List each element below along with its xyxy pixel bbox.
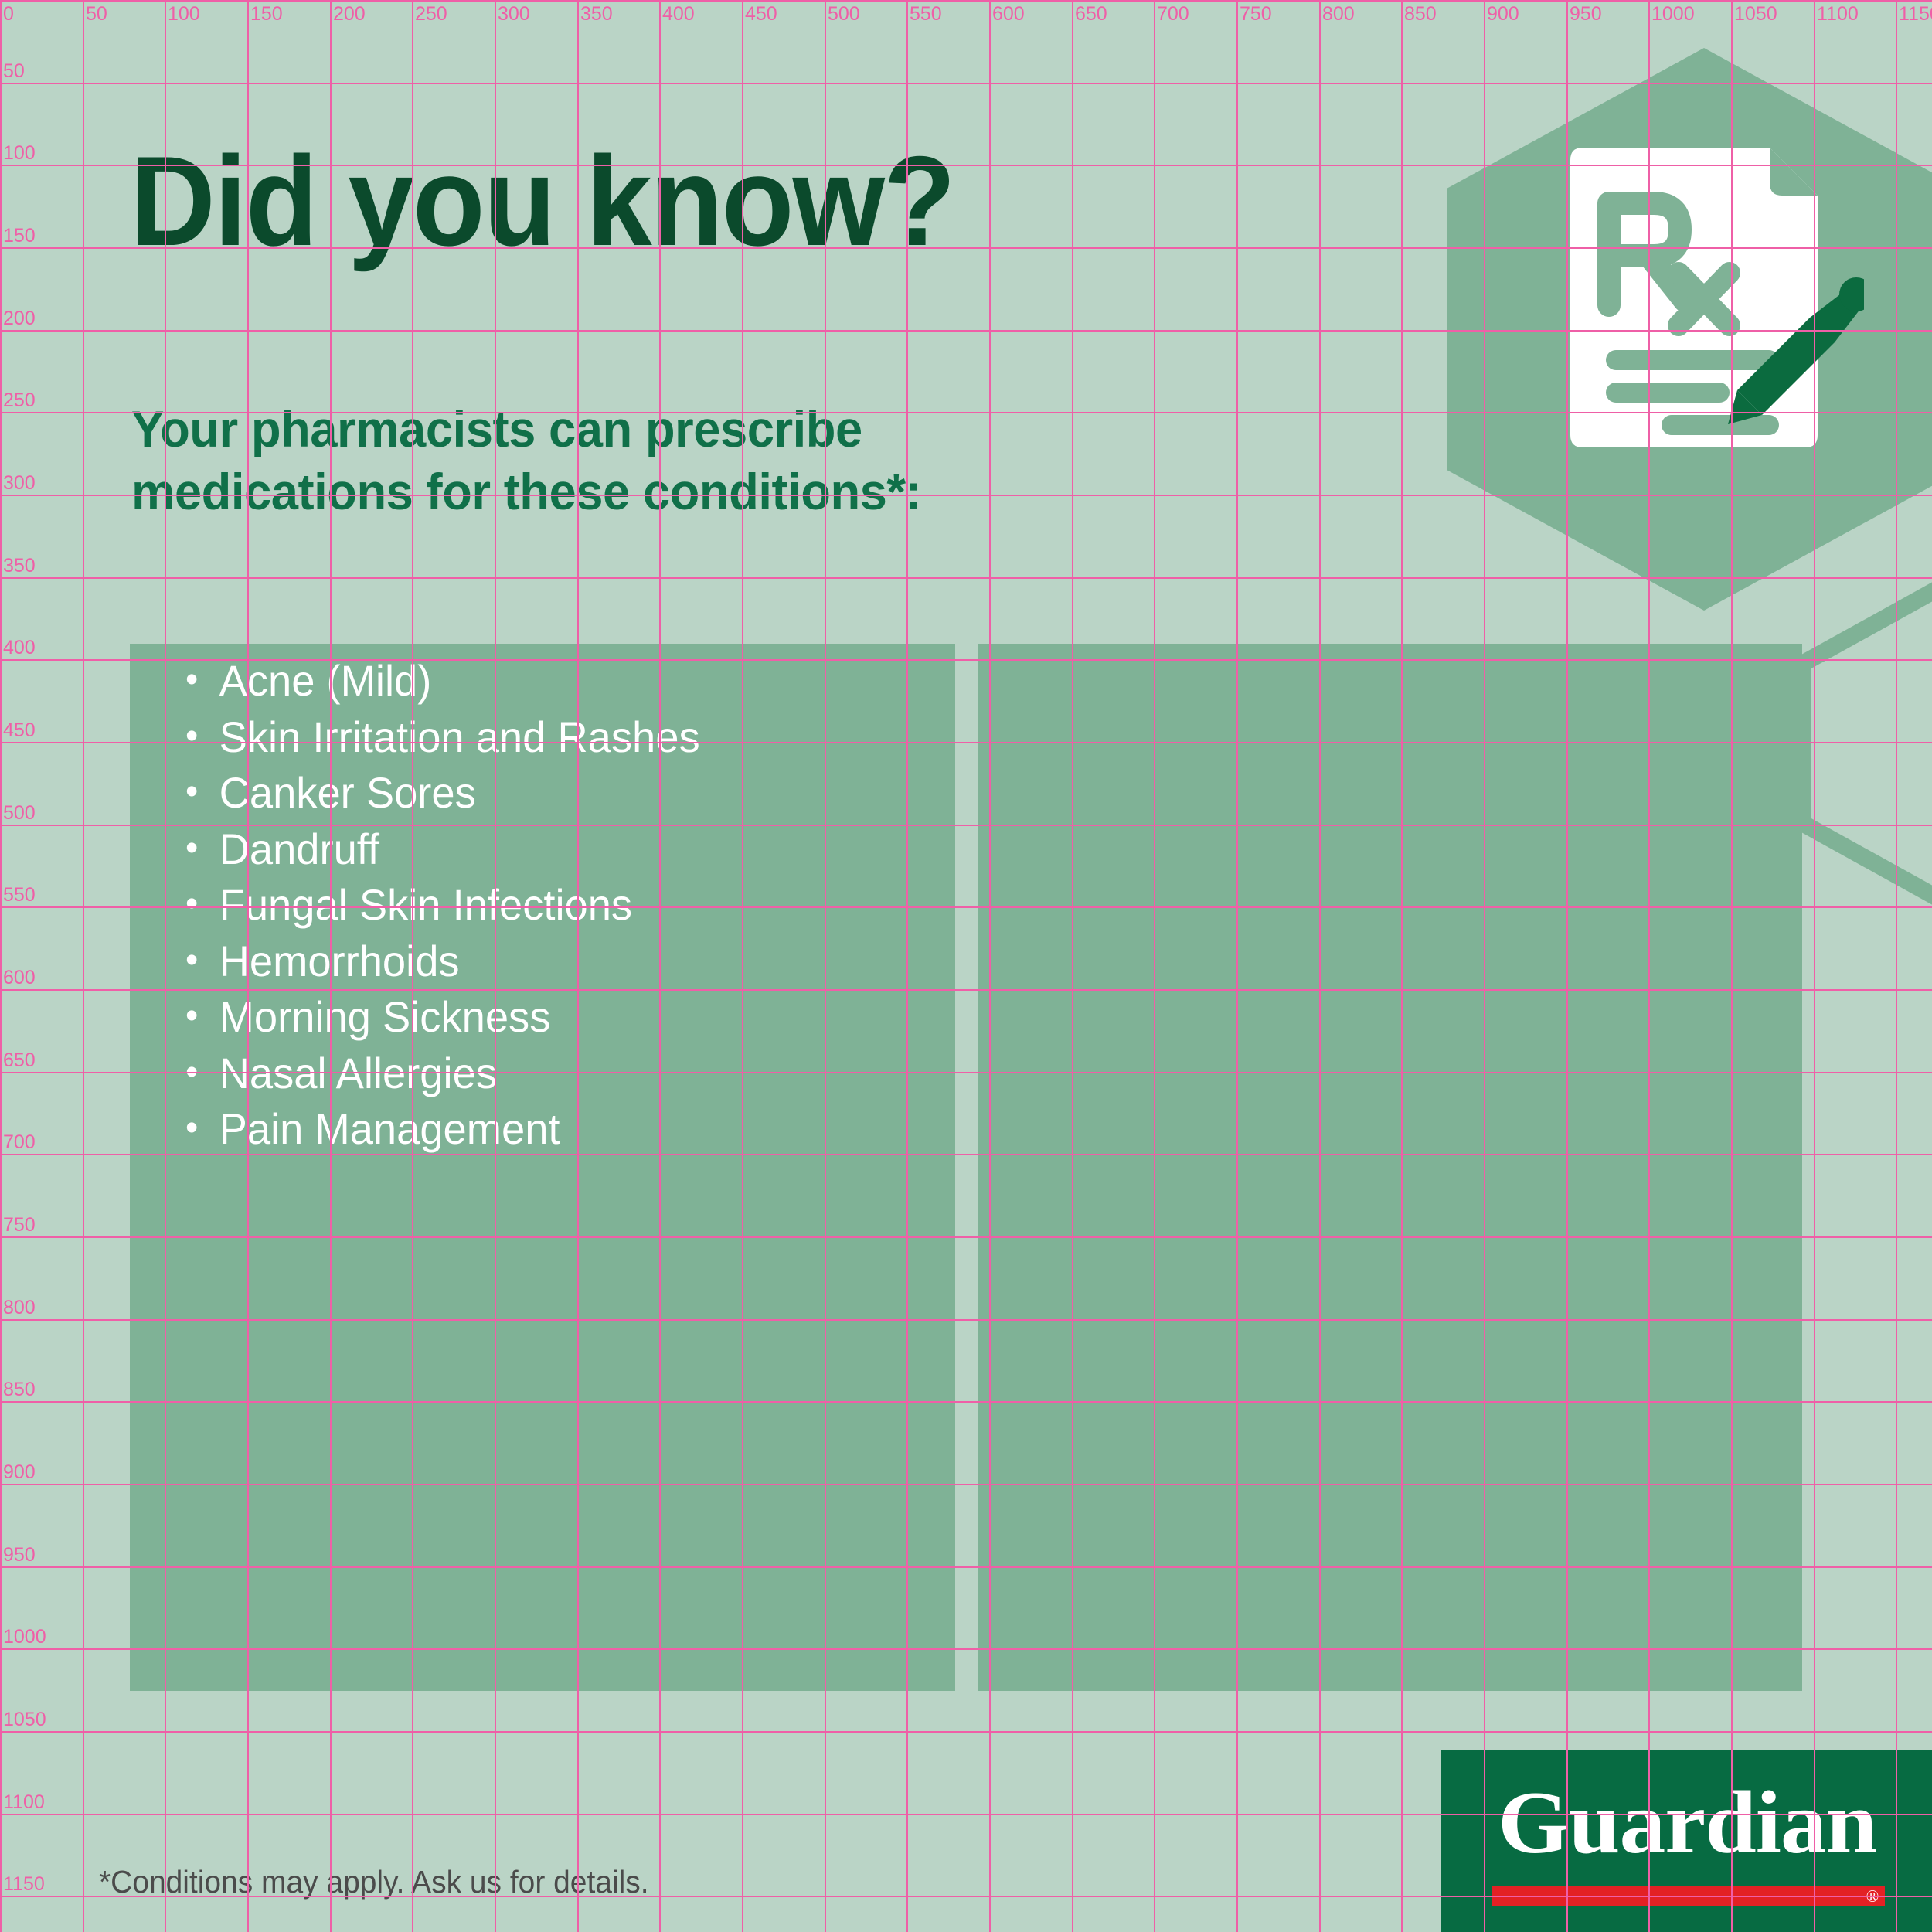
grid-tick-label-x: 100	[168, 5, 200, 24]
grid-tick-label-y: 1100	[3, 1793, 45, 1812]
grid-line-vertical	[1896, 0, 1897, 1932]
list-item: Nasal Allergies	[185, 1046, 700, 1102]
prescription-rx-icon	[1563, 143, 1864, 452]
grid-tick-label-x: 1050	[1734, 5, 1777, 24]
grid-tick-label-y: 150	[3, 226, 36, 246]
grid-line-horizontal	[0, 577, 1932, 579]
list-item: Pain Management	[185, 1101, 700, 1158]
grid-line-horizontal	[0, 83, 1932, 84]
grid-tick-label-x: 950	[1570, 5, 1602, 24]
grid-tick-label-y: 50	[3, 62, 25, 81]
page-title: Did you know?	[130, 138, 954, 265]
list-item: Morning Sickness	[185, 989, 700, 1046]
grid-tick-label-y: 300	[3, 474, 36, 493]
condition-list: Acne (Mild) Skin Irritation and Rashes C…	[185, 653, 700, 1158]
grid-tick-label-x: 650	[1075, 5, 1107, 24]
grid-tick-label-x: 800	[1322, 5, 1355, 24]
grid-tick-label-x: 1150	[1899, 5, 1932, 24]
list-item: Fungal Skin Infections	[185, 877, 700, 934]
grid-tick-label-x: 400	[662, 5, 695, 24]
grid-tick-label-y: 950	[3, 1546, 36, 1565]
guardian-red-rule	[1492, 1886, 1885, 1906]
grid-tick-label-x: 350	[580, 5, 613, 24]
grid-tick-label-x: 750	[1240, 5, 1272, 24]
grid-tick-label-x: 600	[992, 5, 1025, 24]
grid-tick-label-y: 750	[3, 1216, 36, 1235]
grid-tick-label-x: 1000	[1651, 5, 1695, 24]
grid-tick-label-y: 700	[3, 1133, 36, 1152]
grid-tick-label-x: 0	[3, 5, 14, 24]
page-subtitle: Your pharmacists can prescribe medicatio…	[131, 398, 921, 522]
grid-tick-label-x: 850	[1404, 5, 1437, 24]
page-subtitle-line-1: Your pharmacists can prescribe	[131, 398, 921, 461]
grid-tick-label-y: 900	[3, 1463, 36, 1482]
grid-tick-label-x: 300	[498, 5, 530, 24]
grid-tick-label-x: 200	[333, 5, 366, 24]
grid-tick-label-x: 250	[415, 5, 447, 24]
list-item: Hemorrhoids	[185, 934, 700, 990]
guardian-wordmark: Guardian	[1498, 1778, 1876, 1867]
grid-tick-label-y: 500	[3, 804, 36, 823]
guardian-logo: Guardian ®	[1441, 1750, 1932, 1932]
grid-tick-label-x: 500	[828, 5, 860, 24]
grid-tick-label-x: 50	[86, 5, 107, 24]
grid-tick-label-y: 1050	[3, 1710, 46, 1730]
hexagon-outline-icon	[1791, 573, 1932, 913]
list-item: Acne (Mild)	[185, 653, 700, 709]
list-item: Canker Sores	[185, 765, 700, 821]
grid-tick-label-y: 550	[3, 886, 36, 905]
grid-tick-label-y: 600	[3, 968, 36, 988]
grid-tick-label-y: 200	[3, 309, 36, 328]
grid-tick-label-y: 1150	[3, 1875, 45, 1894]
grid-tick-label-y: 400	[3, 638, 36, 658]
footnote-disclaimer: *Conditions may apply. Ask us for detail…	[99, 1864, 649, 1900]
grid-tick-label-y: 350	[3, 556, 36, 576]
grid-line-horizontal	[0, 0, 1932, 2]
grid-line-horizontal	[0, 1731, 1932, 1733]
content-panel-right	[978, 644, 1802, 1691]
grid-line-vertical	[83, 0, 84, 1932]
grid-tick-label-x: 1100	[1817, 5, 1859, 24]
grid-tick-label-y: 850	[3, 1380, 36, 1400]
grid-tick-label-y: 450	[3, 721, 36, 740]
grid-tick-label-y: 100	[3, 144, 36, 163]
grid-tick-label-x: 450	[745, 5, 777, 24]
registered-trademark-icon: ®	[1863, 1887, 1882, 1906]
grid-tick-label-x: 700	[1157, 5, 1189, 24]
grid-tick-label-y: 250	[3, 391, 36, 410]
grid-tick-label-x: 150	[250, 5, 283, 24]
list-item: Dandruff	[185, 821, 700, 878]
grid-tick-label-y: 1000	[3, 1628, 46, 1647]
list-item: Skin Irritation and Rashes	[185, 709, 700, 766]
poster-canvas: Did you know? Your pharmacists can presc…	[0, 0, 1932, 1932]
grid-tick-label-x: 900	[1487, 5, 1519, 24]
grid-tick-label-y: 650	[3, 1051, 36, 1070]
grid-tick-label-y: 800	[3, 1298, 36, 1318]
page-subtitle-line-2: medications for these conditions*:	[131, 461, 921, 523]
grid-tick-label-x: 550	[910, 5, 942, 24]
grid-line-vertical	[0, 0, 2, 1932]
